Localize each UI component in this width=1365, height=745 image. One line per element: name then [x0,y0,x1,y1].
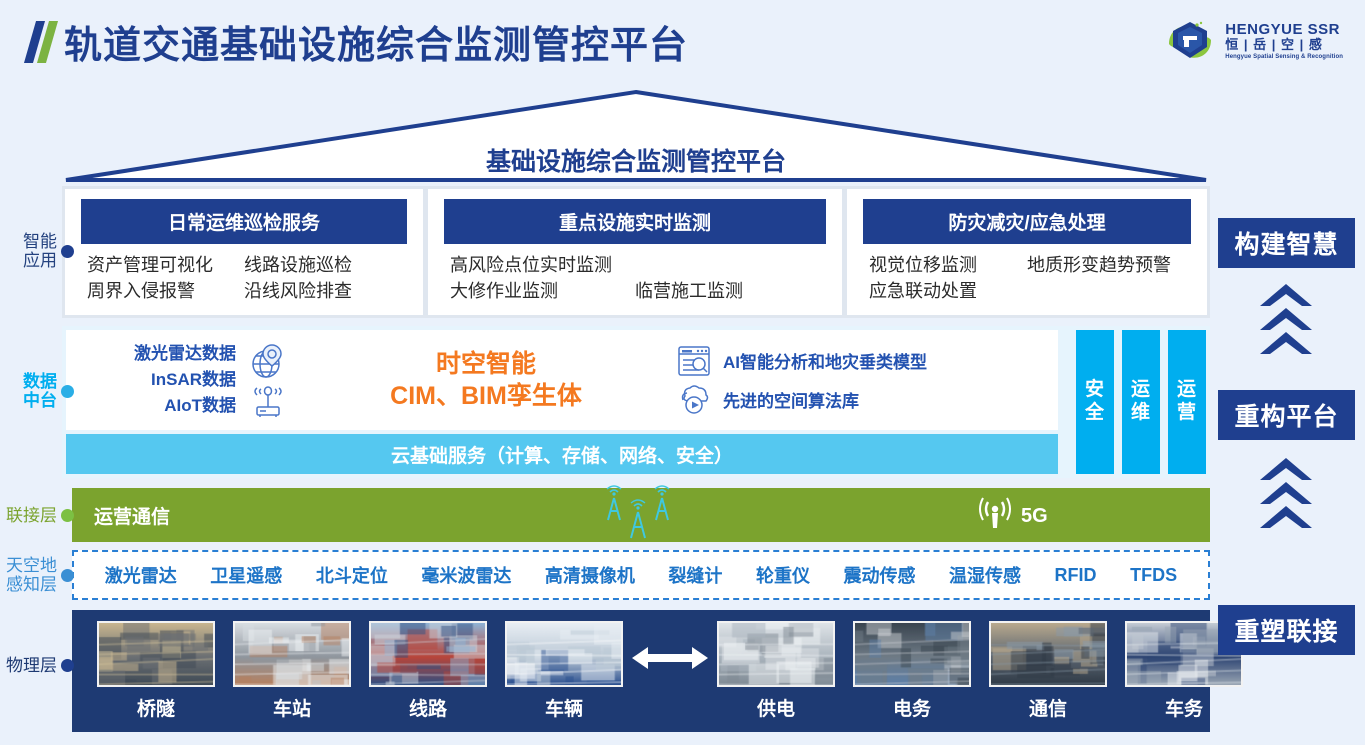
pillar-char: 安 [1085,379,1105,402]
sensor-item[interactable]: 轮重仪 [756,562,810,588]
rail-label-text: 智能 应用 [23,232,61,270]
triple-chevron-up-icon [1258,456,1314,536]
physical-caption: 线路 [409,694,447,721]
5g-label: 5G [1021,505,1048,528]
physical-caption: 供电 [757,694,795,721]
rail-dot-icon [61,509,74,522]
logo-subtitle: Hengyue Spatial Sensing & Recognition [1225,54,1343,60]
rail-label-intelligent-application: 智能 应用 [0,232,78,270]
ai-capability-column: AI智能分析和地灾垂类模型 先进的空间算法库 [651,338,1058,423]
pillar-char: 运 [1177,379,1197,402]
rail-line-2: 应用 [23,251,57,270]
app-card-items: 资产管理可视化 线路设施巡检 周界入侵报警 沿线风险排查 [65,244,423,304]
operations-pillar[interactable]: 运 营 [1168,330,1206,474]
sensor-item[interactable]: 裂缝计 [668,562,722,588]
logo-text-block: HENGYUE SSR 恒 | 岳 | 空 | 感 Hengyue Spatia… [1225,22,1343,61]
page-title: 轨道交通基础设施综合监测管控平台 [64,14,688,69]
hengyue-emblem-icon [1163,14,1217,68]
physical-item-power-supply[interactable]: 供电 [713,621,839,721]
trackside-signal-photo [989,621,1107,687]
application-layer: 日常运维巡检服务 资产管理可视化 线路设施巡检 周界入侵报警 沿线风险排查 重点… [62,186,1210,318]
ops-maintenance-pillar[interactable]: 运 维 [1122,330,1160,474]
sensor-item[interactable]: TFDS [1130,565,1177,586]
security-pillar[interactable]: 安 全 [1076,330,1114,474]
data-platform-content: 激光雷达数据 InSAR数据 AIoT数据 [66,330,1058,430]
pillar-char: 运 [1131,379,1151,402]
bridge-tunnel-worker-photo [97,621,215,687]
rail-label-sensing: 天空地 感知层 [0,556,78,594]
app-item[interactable]: 临营施工监测 [635,278,820,304]
physical-group-operations: 供电 电务 通信 车务 [708,621,1252,721]
double-arrow-icon [632,645,708,671]
right-box-rebuild-platform[interactable]: 重构平台 [1218,390,1355,440]
company-logo: HENGYUE SSR 恒 | 岳 | 空 | 感 Hengyue Spatia… [1163,14,1343,68]
app-card-daily-ops: 日常运维巡检服务 资产管理可视化 线路设施巡检 周界入侵报警 沿线风险排查 [65,189,423,315]
physical-caption: 通信 [1029,694,1067,721]
rail-line-1: 天空地 [6,556,57,575]
station-concourse-photo [233,621,351,687]
algorithm-library-label: 先进的空间算法库 [723,387,859,412]
data-sources-column: 激光雷达数据 InSAR数据 AIoT数据 [66,341,321,418]
rail-label-text: 物理层 [6,656,61,675]
algorithm-library-row[interactable]: 先进的空间算法库 [665,384,1058,416]
app-card-title: 重点设施实时监测 [444,199,826,244]
rail-label-data-platform: 数据 中台 [0,372,78,410]
sensor-item[interactable]: 激光雷达 [105,562,177,588]
data-platform-main: 激光雷达数据 InSAR数据 AIoT数据 [66,330,1058,474]
5g-block: 5G [977,496,1048,537]
right-box-build-intelligence[interactable]: 构建智慧 [1218,218,1355,268]
triple-chevron-up-icon [1258,282,1314,362]
physical-caption: 电务 [893,694,931,721]
app-card-title: 日常运维巡检服务 [81,199,407,244]
catenary-power-photo [717,621,835,687]
rail-dot-icon [61,659,74,672]
app-item[interactable]: 应急联动处置 [869,278,1027,304]
rail-label-text: 联接层 [6,506,61,525]
data-middle-platform-layer: 激光雷达数据 InSAR数据 AIoT数据 [62,326,1210,478]
5g-signal-icon [977,496,1013,537]
physical-item-bridge-tunnel[interactable]: 桥隧 [93,621,219,721]
pillar-char: 全 [1085,402,1105,425]
rail-label-connection: 联接层 [0,506,78,525]
digital-twin-block: 时空智能 CIM、BIM孪生体 [321,348,651,413]
physical-layer: 桥隧 车站 线路 车辆 供电 [72,610,1210,732]
rail-dot-icon [61,385,74,398]
logo-chinese: 恒 | 岳 | 空 | 感 [1225,38,1343,52]
physical-item-line[interactable]: 线路 [365,621,491,721]
physical-caption: 车务 [1165,694,1203,721]
physical-item-electrical[interactable]: 电务 [849,621,975,721]
sensor-item[interactable]: 卫星遥感 [210,562,282,588]
physical-item-communication[interactable]: 通信 [985,621,1111,721]
digital-twin-line1: 时空智能 [321,348,651,381]
ai-analysis-icon [677,345,711,377]
logo-english: HENGYUE SSR [1225,22,1343,38]
physical-item-station[interactable]: 车站 [229,621,355,721]
app-item[interactable]: 沿线风险排查 [244,278,401,304]
physical-group-infrastructure: 桥隧 车站 线路 车辆 [88,621,632,721]
data-source-labels: 激光雷达数据 InSAR数据 AIoT数据 [134,341,236,418]
roof-title: 基础设施综合监测管控平台 [62,142,1210,178]
rail-label-text: 数据 中台 [23,372,61,410]
sensor-item[interactable]: 毫米波雷达 [421,562,511,588]
app-item[interactable]: 高风险点位实时监测 [450,252,635,278]
rail-dot-icon [61,245,74,258]
train-cab-driver-photo [853,621,971,687]
app-item[interactable]: 视觉位移监测 [869,252,1027,278]
slash-logo-icon [30,21,56,63]
app-card-disaster-emergency: 防灾减灾/应急处理 视觉位移监测 地质形变趋势预警 应急联动处置 [847,189,1207,315]
app-card-items: 视觉位移监测 地质形变趋势预警 应急联动处置 [847,244,1207,304]
sensor-item[interactable]: 震动传感 [843,562,915,588]
radar-antenna-icon [251,386,285,418]
pillar-char: 营 [1177,402,1197,425]
rail-line-1: 数据 [23,372,57,391]
pillar-char: 维 [1131,402,1151,425]
governance-pillars: 安 全 运 维 运 营 [1068,330,1206,474]
rail-line-1: 智能 [23,232,57,251]
rail-label-text: 天空地 感知层 [6,556,61,594]
physical-item-vehicle[interactable]: 车辆 [501,621,627,721]
connection-label: 运营通信 [94,502,170,529]
sensor-item[interactable]: RFID [1055,565,1097,586]
ai-analysis-label: AI智能分析和地灾垂类模型 [723,348,927,373]
sensing-layer: 激光雷达 卫星遥感 北斗定位 毫米波雷达 高清摄像机 裂缝计 轮重仪 震动传感 … [72,550,1210,600]
title-block: 轨道交通基础设施综合监测管控平台 [30,14,688,69]
rail-yard-photo [369,621,487,687]
page-header: 轨道交通基础设施综合监测管控平台 HENGYUE SSR 恒 | 岳 | 空 |… [0,0,1365,85]
high-speed-train-photo [505,621,623,687]
data-source-icons [250,342,286,418]
globe-pin-icon [250,342,286,380]
right-box-reshape-connection[interactable]: 重塑联接 [1218,605,1355,655]
app-item-empty [1027,278,1185,304]
app-card-items: 高风险点位实时监测 大修作业监测 临营施工监测 [428,244,842,304]
app-item[interactable]: 地质形变趋势预警 [1027,252,1185,278]
connection-layer-bar: 运营通信 [72,488,1210,542]
antenna-towers-icon [600,484,680,551]
rail-dot-icon [61,569,74,582]
sensor-item[interactable]: 高清摄像机 [545,562,635,588]
data-source-insar[interactable]: InSAR数据 [151,367,236,393]
physical-caption: 车辆 [545,694,583,721]
cloud-infrastructure-bar: 云基础服务（计算、存储、网络、安全） [66,434,1058,474]
digital-twin-line2: CIM、BIM孪生体 [321,380,651,413]
app-item-empty [635,252,820,278]
physical-caption: 桥隧 [137,694,175,721]
architecture-diagram: 轨道交通基础设施综合监测管控平台 HENGYUE SSR 恒 | 岳 | 空 |… [0,0,1365,745]
app-card-key-facility: 重点设施实时监测 高风险点位实时监测 大修作业监测 临营施工监测 [428,189,842,315]
rail-line-2: 中台 [23,391,57,410]
physical-caption: 车站 [273,694,311,721]
app-card-title: 防灾减灾/应急处理 [863,199,1191,244]
app-item[interactable]: 大修作业监测 [450,278,635,304]
rail-label-physical: 物理层 [0,656,78,675]
sensor-item[interactable]: 北斗定位 [316,562,388,588]
app-item[interactable]: 周界入侵报警 [87,278,244,304]
data-source-aiot[interactable]: AIoT数据 [164,393,236,419]
rail-line-2: 感知层 [6,575,57,594]
app-item[interactable]: 线路设施巡检 [244,252,401,278]
sensor-item[interactable]: 温湿传感 [949,562,1021,588]
ai-analysis-row[interactable]: AI智能分析和地灾垂类模型 [665,345,1058,377]
app-item[interactable]: 资产管理可视化 [87,252,244,278]
cloud-play-icon [677,384,711,416]
platform-roof: 基础设施综合监测管控平台 [62,88,1210,186]
data-source-lidar[interactable]: 激光雷达数据 [134,341,236,367]
